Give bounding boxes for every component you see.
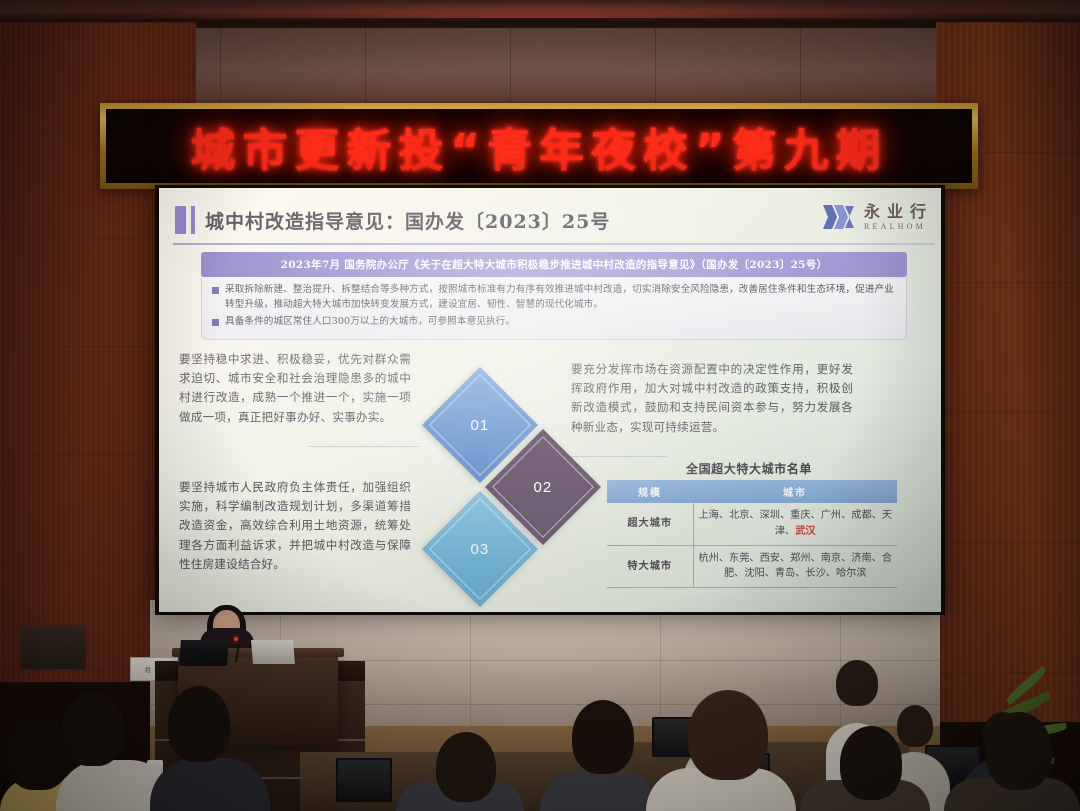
audience-head — [62, 692, 124, 766]
audience-head — [436, 732, 496, 802]
led-banner-text: 城市更新投“青年夜校”第九期 — [190, 114, 887, 179]
table-header-scale: 规模 — [607, 480, 693, 503]
table-cell-scale: 特大城市 — [607, 545, 693, 588]
paragraph-left-1: 要坚持稳中求进、积极稳妥，优先对群众需求迫切、城市安全和社会治理隐患多的城中村进… — [179, 350, 411, 427]
paragraph-right-1: 要充分发挥市场在资源配置中的决定性作用，更好发挥政府作用，加大对城中村改造的政策… — [571, 360, 853, 437]
diamond-label: 02 — [534, 479, 553, 496]
table-cell-scale: 超大城市 — [607, 503, 693, 545]
table-header-cities: 城市 — [693, 480, 897, 503]
bullet-item: 具备条件的城区常住人口300万以上的大城市，可参照本意见执行。 — [212, 315, 896, 330]
slide-canvas: 城中村改造指导意见：国办发〔2023〕25号 永业行 REALHOM 2023年… — [159, 188, 941, 612]
back-wall-upper-panels — [150, 28, 940, 106]
logo-english-name: REALHOM — [864, 223, 933, 231]
led-screen: 城市更新投“青年夜校”第九期 — [106, 109, 972, 183]
paragraph-left-2: 要坚持城市人民政府负主体责任，加强组织实施，科学编制改造规划计划，多渠道筹措改造… — [179, 478, 411, 574]
slide-title: 城中村改造指导意见：国办发〔2023〕25号 — [205, 207, 610, 234]
logo-chinese-name: 永业行 — [864, 204, 933, 220]
presenter-laptop-right — [251, 640, 295, 664]
title-accent-bar — [175, 206, 186, 234]
led-banner: 城市更新投“青年夜校”第九期 — [100, 103, 978, 189]
table-row: 超大城市 上海、北京、深圳、重庆、广州、成都、天津、武汉 — [607, 503, 897, 545]
audience-head — [168, 686, 230, 762]
title-accent-bar-thin — [191, 206, 195, 234]
audience-monitor — [336, 758, 392, 802]
decor-hairline — [309, 446, 419, 447]
policy-banner: 2023年7月 国务院办公厅《关于在超大特大城市积极稳步推进城中村改造的指导意见… — [201, 252, 907, 277]
bullet-text: 具备条件的城区常住人口300万以上的大城市，可参照本意见执行。 — [225, 315, 515, 330]
policy-banner-text: 2023年7月 国务院办公厅《关于在超大特大城市积极稳步推进城中村改造的指导意见… — [281, 257, 828, 272]
audience-head — [6, 718, 70, 790]
cities-highlight: 武汉 — [795, 525, 815, 537]
microphone-indicator-icon — [234, 637, 238, 641]
bullet-square-icon — [212, 319, 219, 326]
company-logo: 永业行 REALHOM — [821, 202, 933, 232]
side-table — [20, 625, 86, 669]
table-header-row: 规模 城市 — [607, 480, 897, 503]
bullet-square-icon — [212, 287, 219, 294]
decor-hairline — [557, 456, 667, 457]
table-row: 特大城市 杭州、东莞、西安、郑州、南京、济南、合肥、沈阳、青岛、长沙、哈尔滨 — [607, 545, 897, 588]
ceiling-glow — [120, 0, 970, 18]
diamond-label: 03 — [471, 541, 490, 558]
table-cell-cities: 上海、北京、深圳、重庆、广州、成都、天津、武汉 — [693, 503, 897, 545]
presenter-laptop-left — [179, 640, 229, 666]
audience-head — [836, 660, 878, 706]
policy-bullet-box: 采取拆除新建、整治提升、拆整结合等多种方式，按照城市标准有力有序有效推进城中村改… — [201, 278, 907, 340]
conference-room-photo: 城市更新投“青年夜校”第九期 城中村改造指导意见：国办发〔2023〕25号 永业… — [0, 0, 1080, 811]
audience-head — [688, 690, 768, 780]
city-table: 规模 城市 超大城市 上海、北京、深圳、重庆、广州、成都、天津、武汉 特大城市 … — [607, 480, 897, 588]
city-table-title: 全国超大特大城市名单 — [599, 460, 899, 477]
audience-head — [840, 726, 902, 800]
diamond-label: 01 — [471, 417, 490, 434]
projection-screen: 城中村改造指导意见：国办发〔2023〕25号 永业行 REALHOM 2023年… — [155, 185, 945, 615]
logo-yh-icon — [821, 202, 857, 232]
bullet-item: 采取拆除新建、整治提升、拆整结合等多种方式，按照城市标准有力有序有效推进城中村改… — [212, 283, 896, 313]
bullet-text: 采取拆除新建、整治提升、拆整结合等多种方式，按照城市标准有力有序有效推进城中村改… — [225, 283, 896, 313]
table-cell-cities: 杭州、东莞、西安、郑州、南京、济南、合肥、沈阳、青岛、长沙、哈尔滨 — [693, 545, 897, 588]
audience-head — [897, 705, 933, 747]
audience-head — [572, 700, 634, 774]
title-underline — [173, 243, 935, 245]
audience-head — [986, 712, 1052, 790]
